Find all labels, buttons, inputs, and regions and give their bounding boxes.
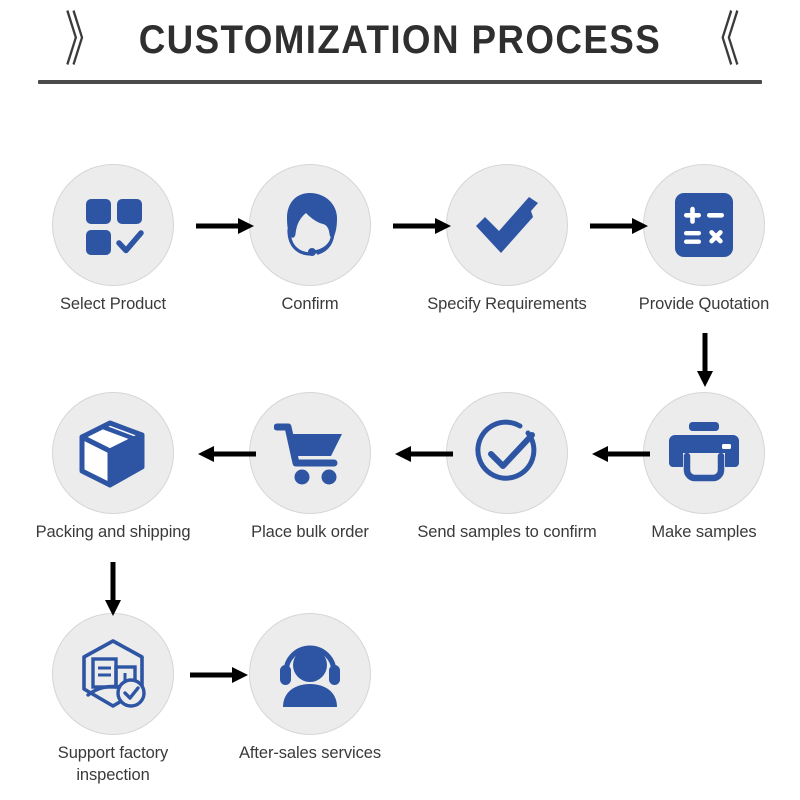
step-label: Support factory inspection xyxy=(31,743,195,787)
customization-process-infographic: 》 CUSTOMIZATION PROCESS 《 Select Product xyxy=(0,0,800,800)
header-title-row: 》 CUSTOMIZATION PROCESS 《 xyxy=(0,0,800,74)
process-step-packing-and-shipping[interactable]: Packing and shipping xyxy=(31,392,195,544)
connector-arrow-left-1 xyxy=(590,444,650,464)
connector-arrow-right-1 xyxy=(196,216,256,236)
connector-arrow-right-4 xyxy=(190,665,250,685)
process-step-support-factory-inspection[interactable]: Support factory inspection xyxy=(31,613,195,787)
step-icon-container xyxy=(52,164,174,286)
factory-inspect-icon xyxy=(75,637,151,711)
chevron-right-double-icon: 》 xyxy=(65,11,99,70)
chevron-left-double-icon: 《 xyxy=(701,11,735,70)
connector-arrow-down-2 xyxy=(103,562,123,618)
process-step-send-samples-to-confirm[interactable]: Send samples to confirm xyxy=(425,392,589,544)
circle-check-icon xyxy=(470,416,544,490)
header-divider xyxy=(38,80,762,84)
process-step-select-product[interactable]: Select Product xyxy=(31,164,195,316)
support-person-icon xyxy=(273,639,347,709)
step-label: Make samples xyxy=(599,522,800,544)
step-label: After-sales services xyxy=(205,743,415,765)
step-icon-container xyxy=(446,164,568,286)
step-icon-container xyxy=(446,392,568,514)
connector-arrow-down-1 xyxy=(695,333,715,389)
step-icon-container xyxy=(249,392,371,514)
calculator-icon xyxy=(671,190,737,260)
process-step-specify-requirements[interactable]: Specify Requirements xyxy=(425,164,589,316)
step-label: Place bulk order xyxy=(205,522,415,544)
page-header: 》 CUSTOMIZATION PROCESS 《 xyxy=(0,0,800,98)
step-label: Packing and shipping xyxy=(8,522,218,544)
step-icon-container xyxy=(643,392,765,514)
printer-icon xyxy=(667,420,741,486)
connector-arrow-left-2 xyxy=(393,444,453,464)
step-icon-container xyxy=(643,164,765,286)
page-title: CUSTOMIZATION PROCESS xyxy=(139,18,661,63)
step-icon-container xyxy=(249,164,371,286)
step-label: Confirm xyxy=(228,294,392,316)
step-label: Specify Requirements xyxy=(392,294,622,316)
process-step-after-sales-services[interactable]: After-sales services xyxy=(228,613,392,765)
step-icon-container xyxy=(249,613,371,735)
step-label: Provide Quotation xyxy=(599,294,800,316)
shopping-cart-icon xyxy=(274,419,346,487)
connector-arrow-right-3 xyxy=(590,216,650,236)
process-step-provide-quotation[interactable]: Provide Quotation xyxy=(622,164,786,316)
process-step-place-bulk-order[interactable]: Place bulk order xyxy=(228,392,392,544)
step-icon-container xyxy=(52,613,174,735)
grid-check-icon xyxy=(80,192,146,258)
checkmark-icon xyxy=(471,189,543,261)
step-icon-container xyxy=(52,392,174,514)
step-label: Select Product xyxy=(31,294,195,316)
package-box-icon xyxy=(77,417,149,489)
connector-arrow-right-2 xyxy=(393,216,453,236)
process-step-confirm[interactable]: Confirm xyxy=(228,164,392,316)
process-step-make-samples[interactable]: Make samples xyxy=(622,392,786,544)
headset-agent-icon xyxy=(273,188,347,262)
connector-arrow-left-3 xyxy=(196,444,256,464)
step-label: Send samples to confirm xyxy=(392,522,622,544)
